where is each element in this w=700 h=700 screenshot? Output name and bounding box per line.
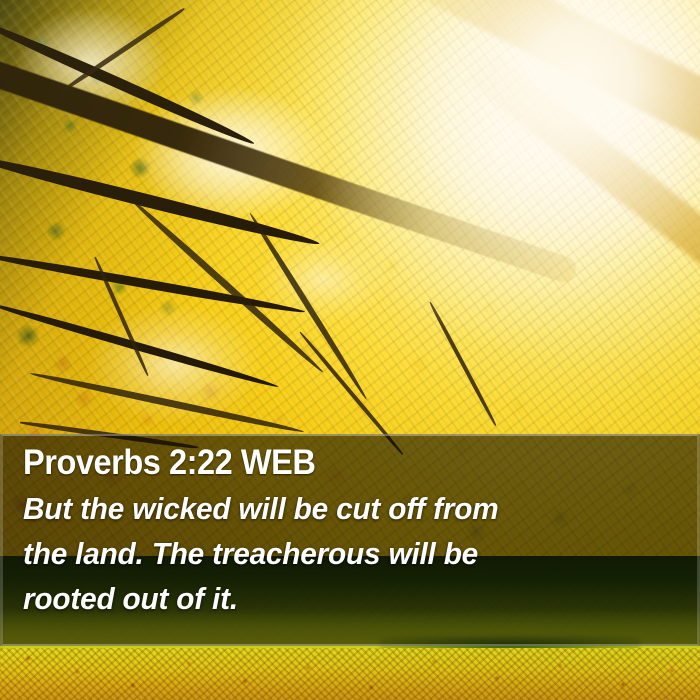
verse-text-line-2: the land. The treacherous will be — [23, 531, 685, 576]
verse-text-line-3: rooted out of it. — [23, 576, 685, 621]
verse-overlay-panel: Proverbs 2:22 WEB But the wicked will be… — [0, 434, 700, 646]
verse-text: But the wicked will be cut off from the … — [23, 486, 685, 621]
verse-text-line-1: But the wicked will be cut off from — [23, 486, 685, 531]
verse-reference: Proverbs 2:22 WEB — [23, 444, 650, 482]
verse-image-card: Proverbs 2:22 WEB But the wicked will be… — [0, 0, 700, 700]
